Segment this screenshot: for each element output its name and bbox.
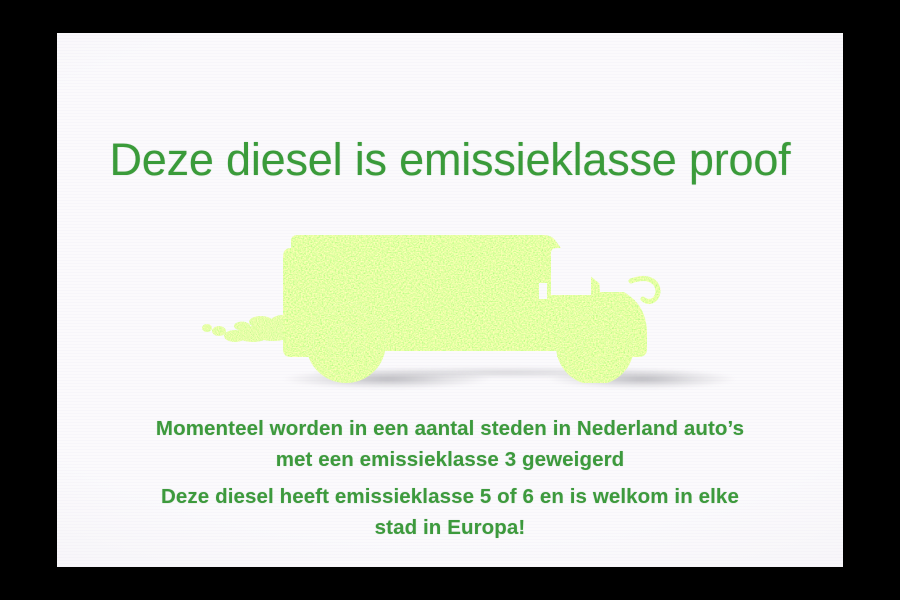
paragraph-this-vehicle: Deze diesel heeft emissieklasse 5 of 6 e… [57, 481, 843, 543]
content-stage: Deze diesel is emissieklasse proof Momen… [57, 33, 843, 567]
paragraph-current-situation: Momenteel worden in een aantal steden in… [57, 413, 843, 475]
paragraph-line: met een emissieklasse 3 geweigerd [57, 444, 843, 475]
paragraph-line: Momenteel worden in een aantal steden in… [57, 413, 843, 444]
letterbox-frame: Deze diesel is emissieklasse proof Momen… [0, 0, 900, 600]
paragraph-line: Deze diesel heeft emissieklasse 5 of 6 e… [57, 481, 843, 512]
page-title: Deze diesel is emissieklasse proof [57, 137, 843, 182]
van-svg [195, 191, 725, 406]
paragraph-line: stad in Europa! [57, 512, 843, 543]
